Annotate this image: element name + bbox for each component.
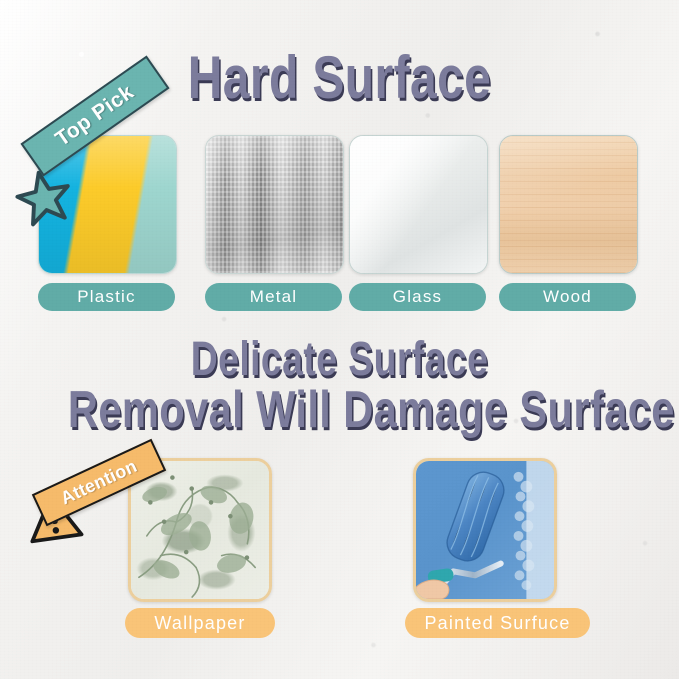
wood-swatch [499, 135, 638, 274]
painted-surface-label: Painted Surfuce [405, 608, 590, 638]
glass-sheen [350, 136, 487, 273]
painted-surface-swatch [413, 458, 557, 602]
infographic-canvas: Hard Surface Plastic Metal Glass Wood To… [0, 0, 679, 679]
glass-swatch [349, 135, 488, 274]
wallpaper-swatch [128, 458, 272, 602]
glass-label: Glass [349, 283, 486, 311]
delicate-surface-title-line2: Removal Will Damage Surface [68, 384, 611, 436]
plastic-label: Plastic [38, 283, 175, 311]
wallpaper-label: Wallpaper [125, 608, 275, 638]
wood-sheen [500, 136, 637, 273]
delicate-surface-title-line1: Delicate Surface [75, 336, 605, 384]
metal-label: Metal [205, 283, 342, 311]
metal-sheen [206, 136, 343, 273]
wood-label: Wood [499, 283, 636, 311]
wallpaper-berry-dots [131, 461, 269, 599]
metal-swatch [205, 135, 344, 274]
paint-roller-illustration [416, 461, 554, 599]
